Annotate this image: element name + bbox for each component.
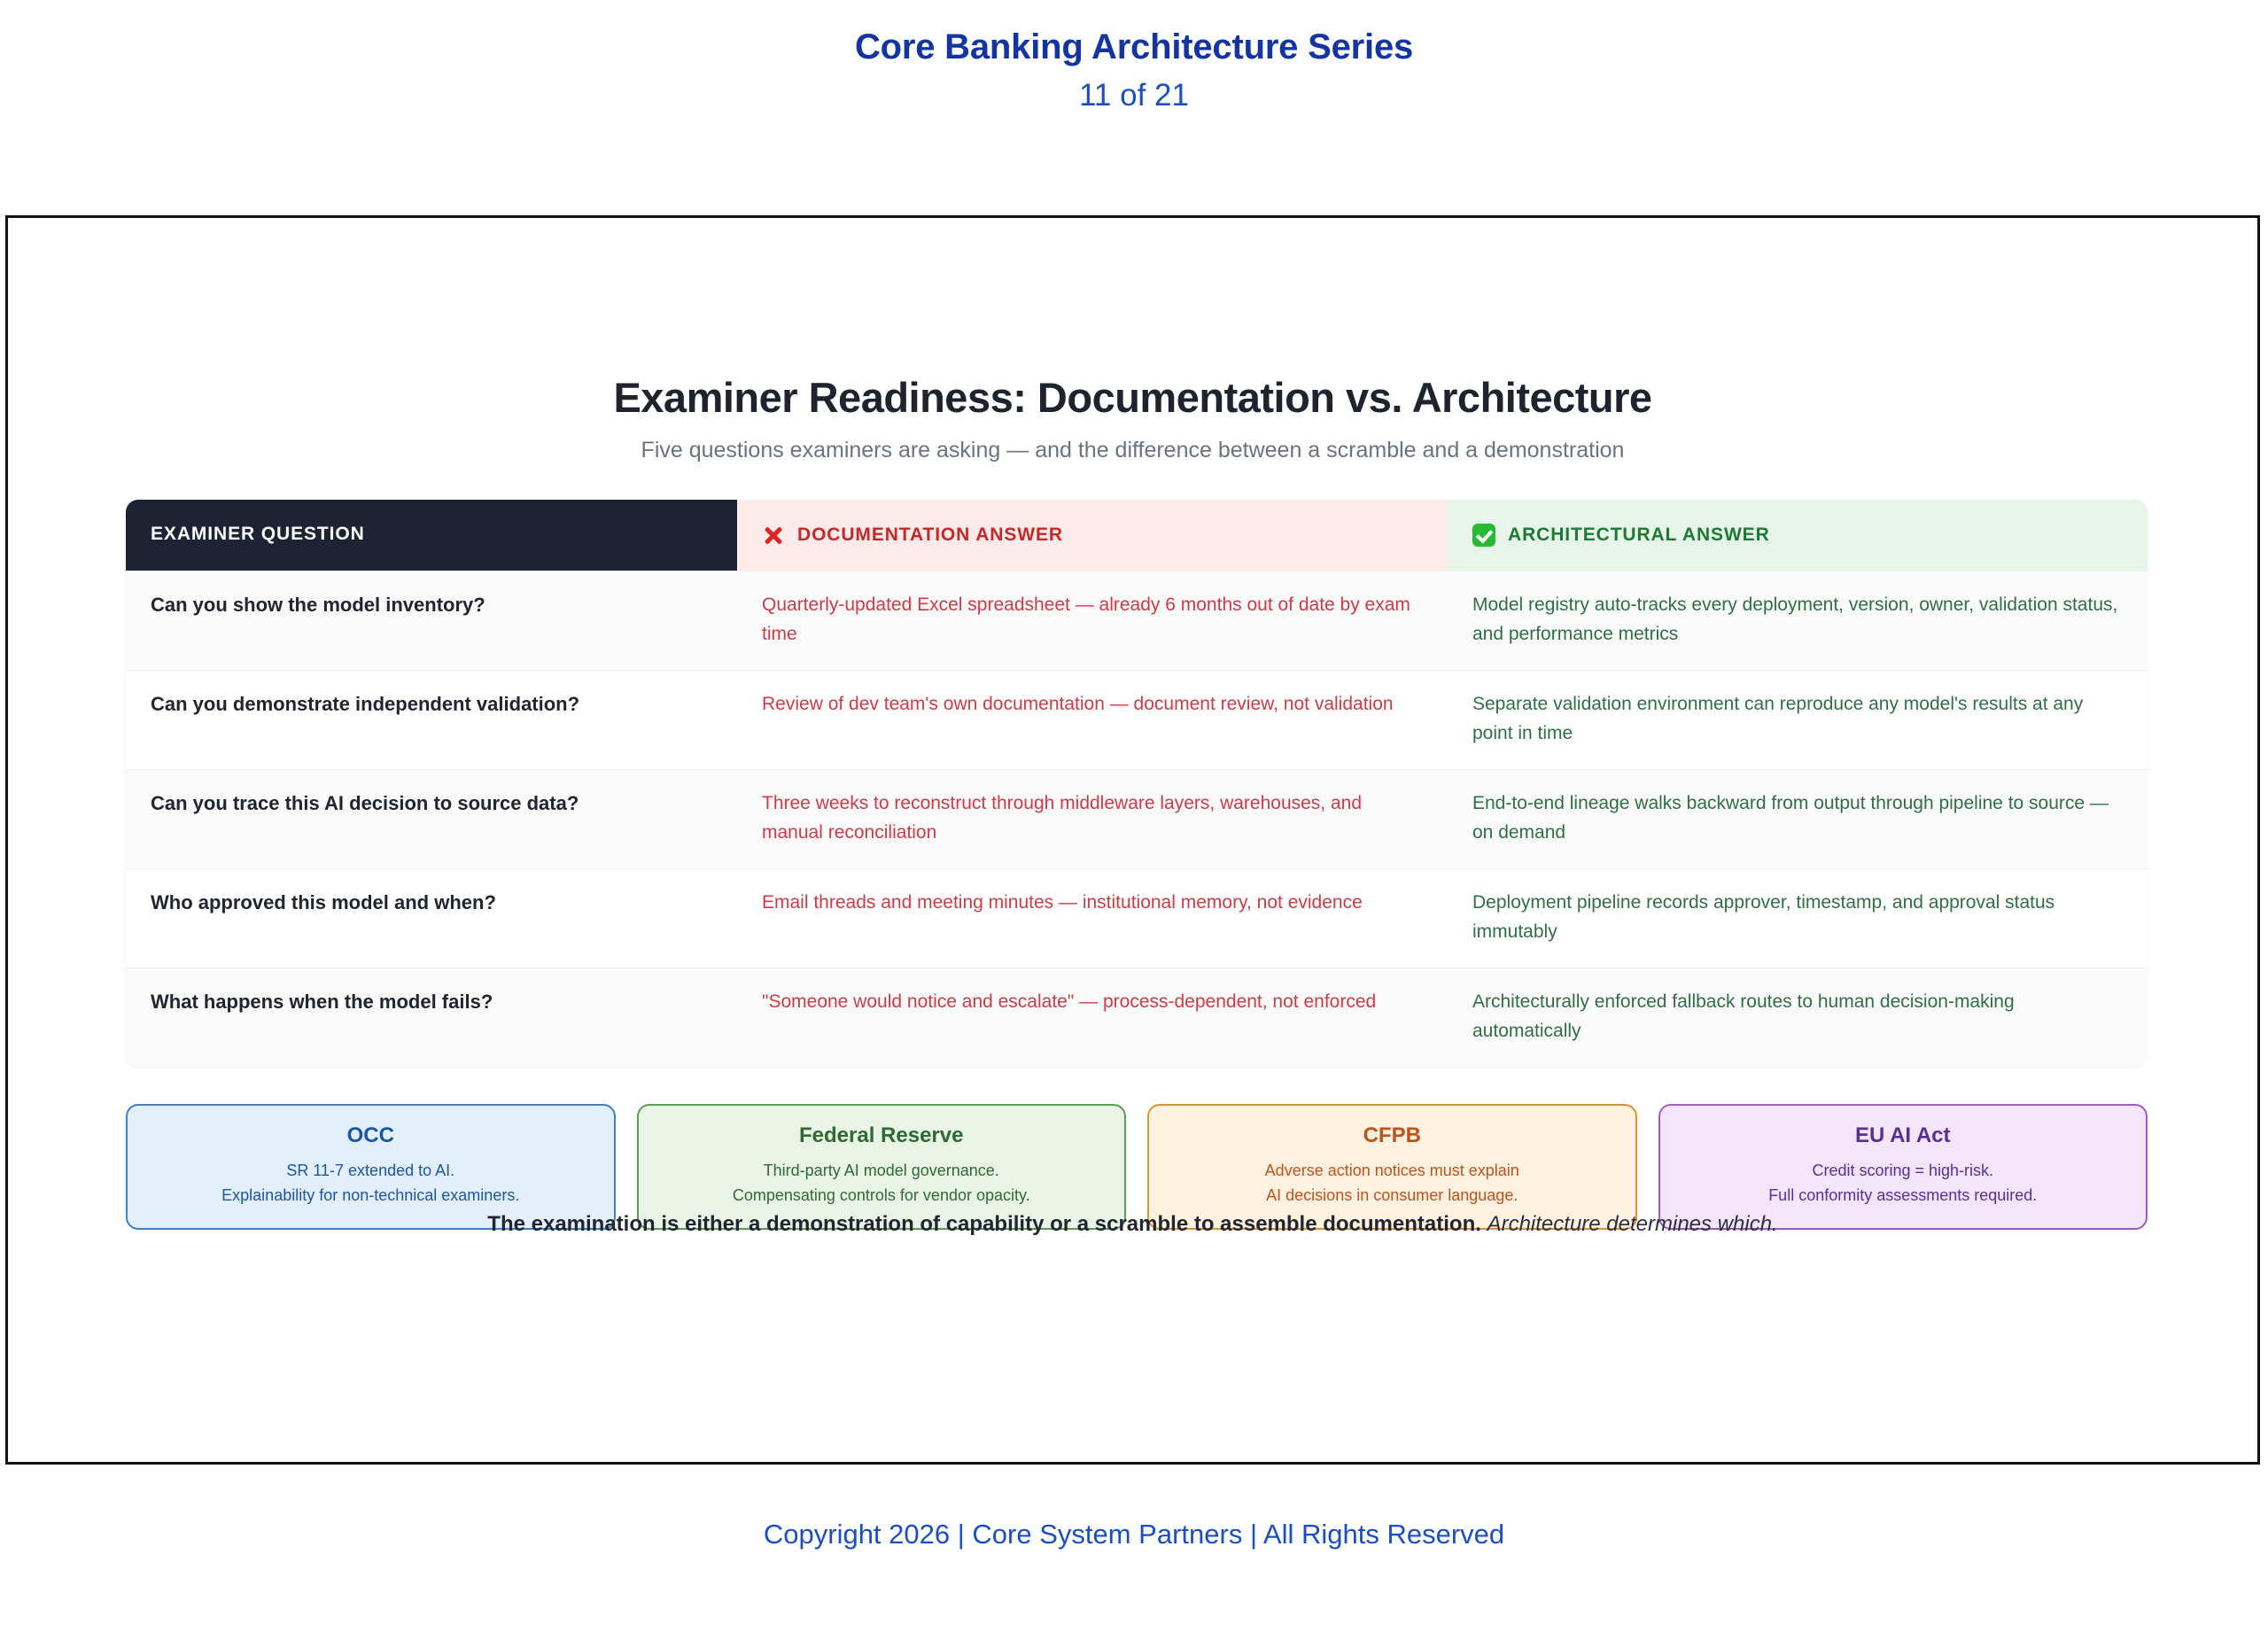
architecture-text: Architecturally enforced fallback routes… [1472,988,2123,1045]
question-text: Can you trace this AI decision to source… [151,789,712,818]
question-text: Can you show the model inventory? [151,591,712,619]
slide-content: Examiner Readiness: Documentation vs. Ar… [8,218,2257,1462]
regulator-card-cfpb: CFPB Adverse action notices must explain… [1147,1104,1637,1230]
regulator-card-federal-reserve: Federal Reserve Third-party AI model gov… [637,1104,1127,1230]
architecture-text: Deployment pipeline records approver, ti… [1472,889,2123,946]
question-text: Can you demonstrate independent validati… [151,690,712,719]
table-row: Who approved this model and when? Email … [126,868,2148,968]
architecture-text: Model registry auto-tracks every deploym… [1472,591,2123,649]
card-title: CFPB [1163,1123,1621,1148]
documentation-text: "Someone would notice and escalate" — pr… [762,988,1423,1017]
card-title: OCC [142,1123,600,1148]
card-title: EU AI Act [1674,1123,2132,1148]
card-line-2: Explainability for non-technical examine… [142,1184,600,1208]
cell-question: Can you trace this AI decision to source… [126,770,737,868]
cell-architecture: Model registry auto-tracks every deploym… [1448,571,2148,670]
card-line-2: AI decisions in consumer language. [1163,1184,1621,1208]
column-header-label: DOCUMENTATION ANSWER [797,525,1063,546]
column-header-examiner-question: EXAMINER QUESTION [126,500,737,571]
column-header-label: ARCHITECTURAL ANSWER [1508,525,1770,546]
column-header-label: EXAMINER QUESTION [151,524,365,544]
page-header: Core Banking Architecture Series 11 of 2… [0,0,2268,113]
cell-architecture: Architecturally enforced fallback routes… [1448,968,2148,1067]
card-title: Federal Reserve [653,1123,1111,1148]
cell-documentation: Quarterly-updated Excel spreadsheet — al… [737,571,1448,670]
column-header-documentation-answer: DOCUMENTATION ANSWER [737,500,1448,571]
question-text: What happens when the model fails? [151,988,712,1016]
table-row: Can you show the model inventory? Quarte… [126,571,2148,670]
cell-documentation: Email threads and meeting minutes — inst… [737,869,1448,968]
regulator-card-occ: OCC SR 11-7 extended to AI. Explainabili… [126,1104,616,1230]
cell-question: What happens when the model fails? [126,968,737,1067]
comparison-table: EXAMINER QUESTION DOCUMENTATION ANSWER A… [126,500,2148,1067]
architecture-text: End-to-end lineage walks backward from o… [1472,789,2123,847]
closing-bold-text: The examination is either a demonstratio… [487,1212,1481,1236]
card-line-1: SR 11-7 extended to AI. [142,1159,600,1184]
closing-italic-text: Architecture determines which. [1487,1212,1778,1236]
cell-question: Can you show the model inventory? [126,571,737,670]
cell-documentation: Three weeks to reconstruct through middl… [737,770,1448,868]
cell-documentation: "Someone would notice and escalate" — pr… [737,968,1448,1067]
question-text: Who approved this model and when? [151,889,712,917]
documentation-text: Quarterly-updated Excel spreadsheet — al… [762,591,1423,649]
architecture-text: Separate validation environment can repr… [1472,690,2123,748]
closing-statement: The examination is either a demonstratio… [8,1212,2257,1237]
cell-architecture: Separate validation environment can repr… [1448,671,2148,769]
card-line-1: Credit scoring = high-risk. [1674,1159,2132,1184]
slide-frame: Examiner Readiness: Documentation vs. Ar… [5,215,2260,1465]
table-row: Can you trace this AI decision to source… [126,769,2148,868]
card-line-1: Adverse action notices must explain [1163,1159,1621,1184]
table-row: What happens when the model fails? "Some… [126,968,2148,1067]
slide-title: Examiner Readiness: Documentation vs. Ar… [8,373,2257,422]
series-title: Core Banking Architecture Series [0,27,2268,67]
regulator-card-eu-ai-act: EU AI Act Credit scoring = high-risk. Fu… [1658,1104,2148,1230]
copyright-text: Copyright 2026 | Core System Partners | … [0,1519,2268,1550]
check-mark-icon [1472,524,1495,547]
column-header-architectural-answer: ARCHITECTURAL ANSWER [1448,500,2148,571]
card-line-1: Third-party AI model governance. [653,1159,1111,1184]
slide-counter: 11 of 21 [0,78,2268,113]
table-header-row: EXAMINER QUESTION DOCUMENTATION ANSWER A… [126,500,2148,571]
cell-architecture: Deployment pipeline records approver, ti… [1448,869,2148,968]
cell-documentation: Review of dev team's own documentation —… [737,671,1448,769]
documentation-text: Email threads and meeting minutes — inst… [762,889,1423,918]
card-line-2: Full conformity assessments required. [1674,1184,2132,1208]
documentation-text: Three weeks to reconstruct through middl… [762,789,1423,847]
cell-question: Who approved this model and when? [126,869,737,968]
documentation-text: Review of dev team's own documentation —… [762,690,1423,719]
regulator-cards: OCC SR 11-7 extended to AI. Explainabili… [126,1104,2148,1230]
table-row: Can you demonstrate independent validati… [126,670,2148,769]
cell-architecture: End-to-end lineage walks backward from o… [1448,770,2148,868]
cell-question: Can you demonstrate independent validati… [126,671,737,769]
slide-subtitle: Five questions examiners are asking — an… [8,438,2257,463]
cross-mark-icon [762,524,785,547]
card-line-2: Compensating controls for vendor opacity… [653,1184,1111,1208]
